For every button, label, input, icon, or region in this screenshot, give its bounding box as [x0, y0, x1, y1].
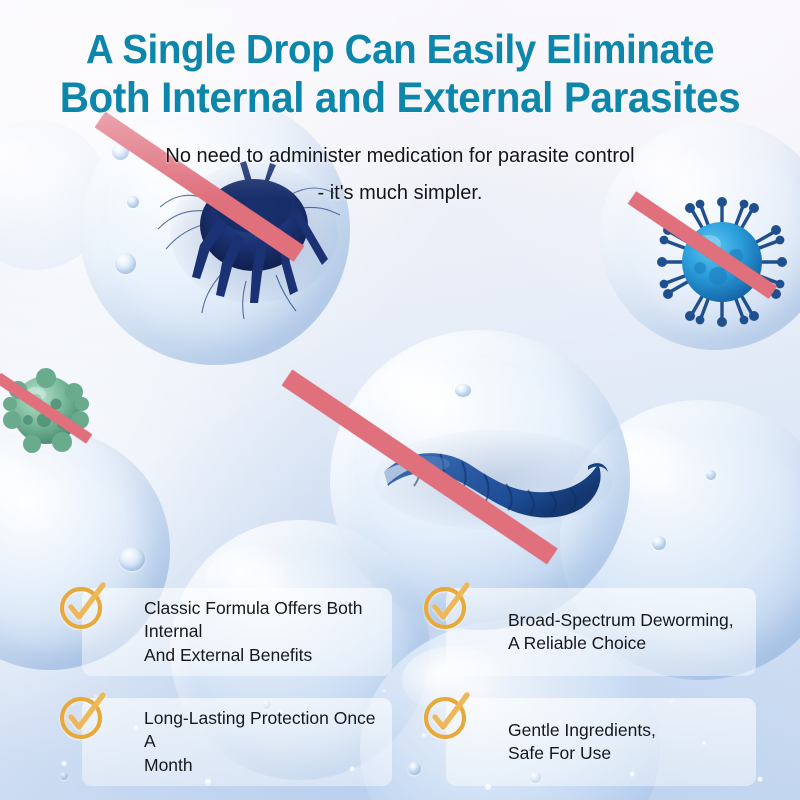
headline-line-1: A Single Drop Can Easily Eliminate [86, 26, 714, 72]
feature-card: Gentle Ingredients, Safe For Use [446, 698, 756, 786]
check-circle-icon [420, 580, 472, 632]
subheadline-line-2: - it's much simpler. [0, 175, 800, 212]
feature-label: Long-Lasting Protection Once A Month [144, 707, 378, 776]
water-droplet [115, 253, 136, 274]
check-circle-icon [420, 690, 472, 742]
water-droplet [706, 470, 716, 480]
feature-label: Classic Formula Offers Both Internal And… [144, 597, 378, 666]
feature-card: Long-Lasting Protection Once A Month [82, 698, 392, 786]
check-circle-icon [56, 690, 108, 742]
feature-label: Broad-Spectrum Deworming, A Reliable Cho… [508, 609, 742, 655]
check-circle-icon [56, 580, 108, 632]
feature-label: Gentle Ingredients, Safe For Use [508, 719, 742, 765]
page-subtitle: No need to administer medication for par… [0, 138, 800, 212]
feature-item: Classic Formula Offers Both Internal And… [56, 588, 392, 676]
headline-line-2: Both Internal and External Parasites [24, 74, 776, 124]
feature-item: Long-Lasting Protection Once A Month [56, 698, 392, 786]
poster-canvas: A Single Drop Can Easily Eliminate Both … [0, 0, 800, 800]
feature-list: Classic Formula Offers Both Internal And… [56, 588, 756, 786]
subheadline-line-1: No need to administer medication for par… [0, 138, 800, 175]
page-title: A Single Drop Can Easily Eliminate Both … [24, 26, 776, 123]
feature-card: Classic Formula Offers Both Internal And… [82, 588, 392, 676]
feature-item: Broad-Spectrum Deworming, A Reliable Cho… [420, 588, 756, 676]
feature-card: Broad-Spectrum Deworming, A Reliable Cho… [446, 588, 756, 676]
feature-item: Gentle Ingredients, Safe For Use [420, 698, 756, 786]
water-droplet [455, 384, 471, 397]
